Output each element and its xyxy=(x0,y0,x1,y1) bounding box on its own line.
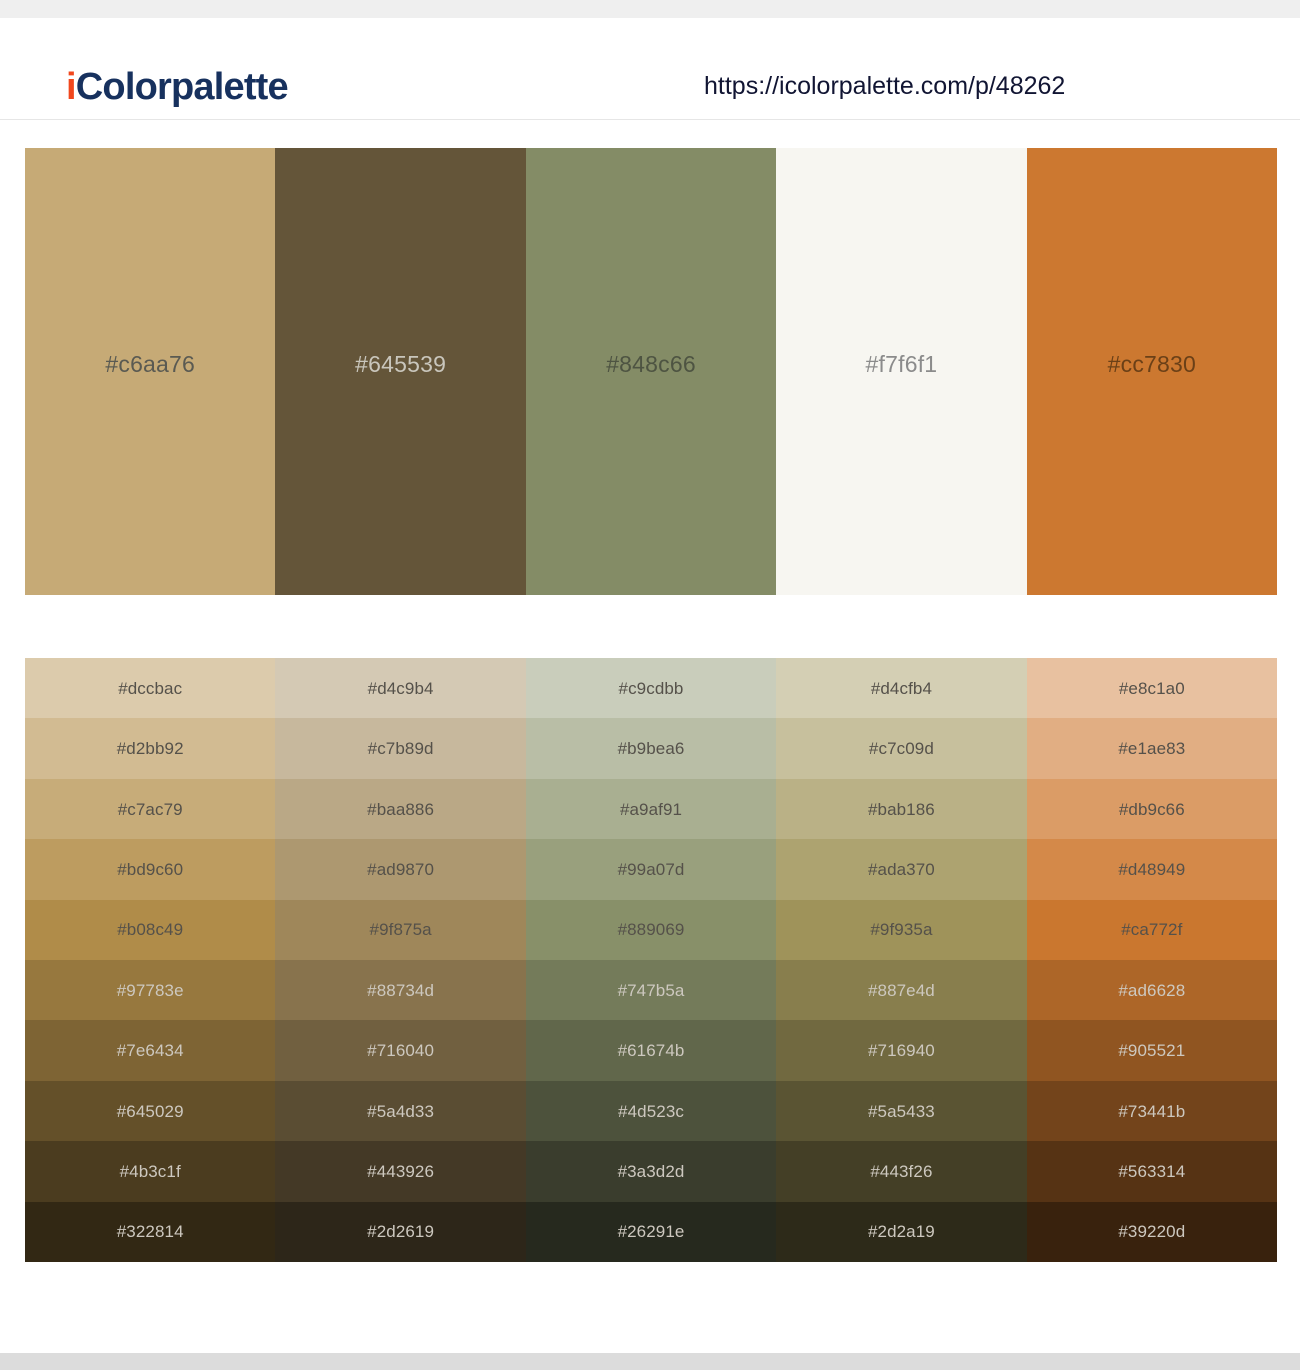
shade-swatch-label: #a9af91 xyxy=(620,801,682,818)
shade-swatch-label: #2d2619 xyxy=(367,1223,434,1240)
shade-swatch-label: #9f935a xyxy=(870,921,932,938)
shade-swatch[interactable]: #d4c9b4 xyxy=(275,658,525,718)
shade-swatch-label: #e1ae83 xyxy=(1118,740,1185,757)
shade-swatch[interactable]: #61674b xyxy=(526,1020,776,1080)
shade-row: #97783e#88734d#747b5a#887e4d#ad6628 xyxy=(25,960,1277,1020)
shade-swatch[interactable]: #443f26 xyxy=(776,1141,1026,1201)
shade-swatch[interactable]: #443926 xyxy=(275,1141,525,1201)
shade-swatch-label: #ca772f xyxy=(1121,921,1182,938)
shade-swatch[interactable]: #9f935a xyxy=(776,900,1026,960)
shade-swatch-label: #716940 xyxy=(868,1042,935,1059)
shade-swatch[interactable]: #563314 xyxy=(1027,1141,1277,1201)
bottom-gray-strip xyxy=(0,1353,1300,1370)
main-palette-strip: #c6aa76#645539#848c66#f7f6f1#cc7830 xyxy=(25,148,1277,595)
shade-swatch[interactable]: #ada370 xyxy=(776,839,1026,899)
shade-swatch-label: #61674b xyxy=(618,1042,685,1059)
shade-swatch-label: #c9cdbb xyxy=(619,680,684,697)
shade-swatch-label: #443f26 xyxy=(870,1163,932,1180)
shade-swatch-label: #716040 xyxy=(367,1042,434,1059)
shade-swatch[interactable]: #bab186 xyxy=(776,779,1026,839)
site-logo[interactable]: iColorpalette xyxy=(66,68,288,106)
shade-swatch-label: #2d2a19 xyxy=(868,1223,935,1240)
shade-swatch[interactable]: #e8c1a0 xyxy=(1027,658,1277,718)
shade-swatch-label: #bab186 xyxy=(868,801,935,818)
shade-swatch-label: #887e4d xyxy=(868,982,935,999)
shade-swatch[interactable]: #889069 xyxy=(526,900,776,960)
shade-swatch[interactable]: #26291e xyxy=(526,1202,776,1262)
shades-grid: #dccbac#d4c9b4#c9cdbb#d4cfb4#e8c1a0#d2bb… xyxy=(25,658,1277,1262)
palette-swatch-label: #645539 xyxy=(355,353,446,376)
shade-swatch[interactable]: #905521 xyxy=(1027,1020,1277,1080)
shade-swatch[interactable]: #c7ac79 xyxy=(25,779,275,839)
shade-swatch-label: #b08c49 xyxy=(117,921,183,938)
shade-swatch-label: #88734d xyxy=(367,982,434,999)
logo-word-colorpalette: Colorpalette xyxy=(76,66,288,108)
shade-swatch[interactable]: #ad6628 xyxy=(1027,960,1277,1020)
shade-swatch-label: #c7b89d xyxy=(368,740,434,757)
palette-swatch[interactable]: #848c66 xyxy=(526,148,776,595)
shade-swatch-label: #645029 xyxy=(117,1103,184,1120)
shade-swatch-label: #443926 xyxy=(367,1163,434,1180)
shade-swatch[interactable]: #88734d xyxy=(275,960,525,1020)
palette-swatch[interactable]: #cc7830 xyxy=(1027,148,1277,595)
shade-swatch[interactable]: #db9c66 xyxy=(1027,779,1277,839)
palette-swatch-label: #cc7830 xyxy=(1108,353,1196,376)
shade-swatch[interactable]: #39220d xyxy=(1027,1202,1277,1262)
shade-swatch[interactable]: #887e4d xyxy=(776,960,1026,1020)
palette-swatch-label: #f7f6f1 xyxy=(866,353,938,376)
shade-swatch-label: #ad9870 xyxy=(367,861,434,878)
shade-swatch[interactable]: #716040 xyxy=(275,1020,525,1080)
shade-swatch[interactable]: #ad9870 xyxy=(275,839,525,899)
shade-swatch[interactable]: #d48949 xyxy=(1027,839,1277,899)
shade-swatch-label: #e8c1a0 xyxy=(1119,680,1185,697)
shade-row: #d2bb92#c7b89d#b9bea6#c7c09d#e1ae83 xyxy=(25,718,1277,778)
shade-swatch[interactable]: #73441b xyxy=(1027,1081,1277,1141)
shade-row: #c7ac79#baa886#a9af91#bab186#db9c66 xyxy=(25,779,1277,839)
shade-swatch-label: #db9c66 xyxy=(1119,801,1185,818)
shade-swatch[interactable]: #d2bb92 xyxy=(25,718,275,778)
shade-row: #4b3c1f#443926#3a3d2d#443f26#563314 xyxy=(25,1141,1277,1201)
shade-swatch[interactable]: #c7c09d xyxy=(776,718,1026,778)
page-root: iColorpalette https://icolorpalette.com/… xyxy=(0,0,1300,1370)
shade-swatch-label: #39220d xyxy=(1118,1223,1185,1240)
shade-swatch[interactable]: #bd9c60 xyxy=(25,839,275,899)
shade-row: #b08c49#9f875a#889069#9f935a#ca772f xyxy=(25,900,1277,960)
shade-row: #dccbac#d4c9b4#c9cdbb#d4cfb4#e8c1a0 xyxy=(25,658,1277,718)
palette-swatch[interactable]: #f7f6f1 xyxy=(776,148,1026,595)
shade-swatch[interactable]: #99a07d xyxy=(526,839,776,899)
shade-swatch-label: #7e6434 xyxy=(117,1042,184,1059)
shade-row: #7e6434#716040#61674b#716940#905521 xyxy=(25,1020,1277,1080)
logo-letter-i: i xyxy=(66,66,76,108)
shade-swatch[interactable]: #b9bea6 xyxy=(526,718,776,778)
shade-swatch[interactable]: #dccbac xyxy=(25,658,275,718)
shade-swatch-label: #5a4d33 xyxy=(367,1103,434,1120)
shade-swatch-label: #4b3c1f xyxy=(120,1163,181,1180)
shade-swatch[interactable]: #716940 xyxy=(776,1020,1026,1080)
shade-row: #bd9c60#ad9870#99a07d#ada370#d48949 xyxy=(25,839,1277,899)
shade-swatch-label: #5a5433 xyxy=(868,1103,935,1120)
shade-swatch[interactable]: #2d2a19 xyxy=(776,1202,1026,1262)
shade-swatch-label: #d48949 xyxy=(1118,861,1185,878)
shade-swatch[interactable]: #e1ae83 xyxy=(1027,718,1277,778)
shade-swatch-label: #99a07d xyxy=(618,861,685,878)
shade-row: #645029#5a4d33#4d523c#5a5433#73441b xyxy=(25,1081,1277,1141)
shade-swatch[interactable]: #ca772f xyxy=(1027,900,1277,960)
top-gray-strip xyxy=(0,0,1300,18)
shade-swatch[interactable]: #3a3d2d xyxy=(526,1141,776,1201)
shade-swatch-label: #747b5a xyxy=(618,982,685,999)
shade-swatch-label: #26291e xyxy=(618,1223,685,1240)
shade-swatch[interactable]: #7e6434 xyxy=(25,1020,275,1080)
shade-swatch-label: #d4cfb4 xyxy=(871,680,932,697)
shade-swatch[interactable]: #322814 xyxy=(25,1202,275,1262)
shade-swatch-label: #ada370 xyxy=(868,861,935,878)
shade-swatch-label: #dccbac xyxy=(118,680,182,697)
shade-swatch-label: #563314 xyxy=(1118,1163,1185,1180)
shade-swatch[interactable]: #645029 xyxy=(25,1081,275,1141)
shade-swatch-label: #9f875a xyxy=(370,921,432,938)
shade-swatch[interactable]: #747b5a xyxy=(526,960,776,1020)
shade-swatch-label: #73441b xyxy=(1118,1103,1185,1120)
shade-swatch-label: #bd9c60 xyxy=(117,861,183,878)
shade-swatch[interactable]: #4d523c xyxy=(526,1081,776,1141)
shade-swatch[interactable]: #5a4d33 xyxy=(275,1081,525,1141)
shade-swatch-label: #ad6628 xyxy=(1118,982,1185,999)
shade-swatch[interactable]: #a9af91 xyxy=(526,779,776,839)
shade-swatch[interactable]: #baa886 xyxy=(275,779,525,839)
shade-swatch-label: #c7c09d xyxy=(869,740,934,757)
site-header: iColorpalette https://icolorpalette.com/… xyxy=(0,18,1300,120)
shade-swatch[interactable]: #4b3c1f xyxy=(25,1141,275,1201)
shade-swatch-label: #3a3d2d xyxy=(618,1163,685,1180)
palette-swatch[interactable]: #645539 xyxy=(275,148,525,595)
shade-swatch-label: #d4c9b4 xyxy=(368,680,434,697)
palette-url[interactable]: https://icolorpalette.com/p/48262 xyxy=(704,74,1065,99)
palette-swatch-label: #c6aa76 xyxy=(105,353,195,376)
shade-swatch[interactable]: #5a5433 xyxy=(776,1081,1026,1141)
shade-swatch[interactable]: #2d2619 xyxy=(275,1202,525,1262)
shade-swatch[interactable]: #97783e xyxy=(25,960,275,1020)
shade-swatch-label: #b9bea6 xyxy=(618,740,685,757)
shade-swatch-label: #97783e xyxy=(117,982,184,999)
shade-swatch-label: #905521 xyxy=(1118,1042,1185,1059)
shade-swatch[interactable]: #9f875a xyxy=(275,900,525,960)
palette-swatch-label: #848c66 xyxy=(606,353,696,376)
shade-swatch-label: #baa886 xyxy=(367,801,434,818)
shade-swatch-label: #4d523c xyxy=(618,1103,684,1120)
shade-row: #322814#2d2619#26291e#2d2a19#39220d xyxy=(25,1202,1277,1262)
shade-swatch[interactable]: #b08c49 xyxy=(25,900,275,960)
shade-swatch-label: #322814 xyxy=(117,1223,184,1240)
shade-swatch[interactable]: #d4cfb4 xyxy=(776,658,1026,718)
palette-swatch[interactable]: #c6aa76 xyxy=(25,148,275,595)
shade-swatch-label: #d2bb92 xyxy=(117,740,184,757)
shade-swatch-label: #c7ac79 xyxy=(118,801,183,818)
shade-swatch-label: #889069 xyxy=(618,921,685,938)
shade-swatch[interactable]: #c9cdbb xyxy=(526,658,776,718)
shade-swatch[interactable]: #c7b89d xyxy=(275,718,525,778)
